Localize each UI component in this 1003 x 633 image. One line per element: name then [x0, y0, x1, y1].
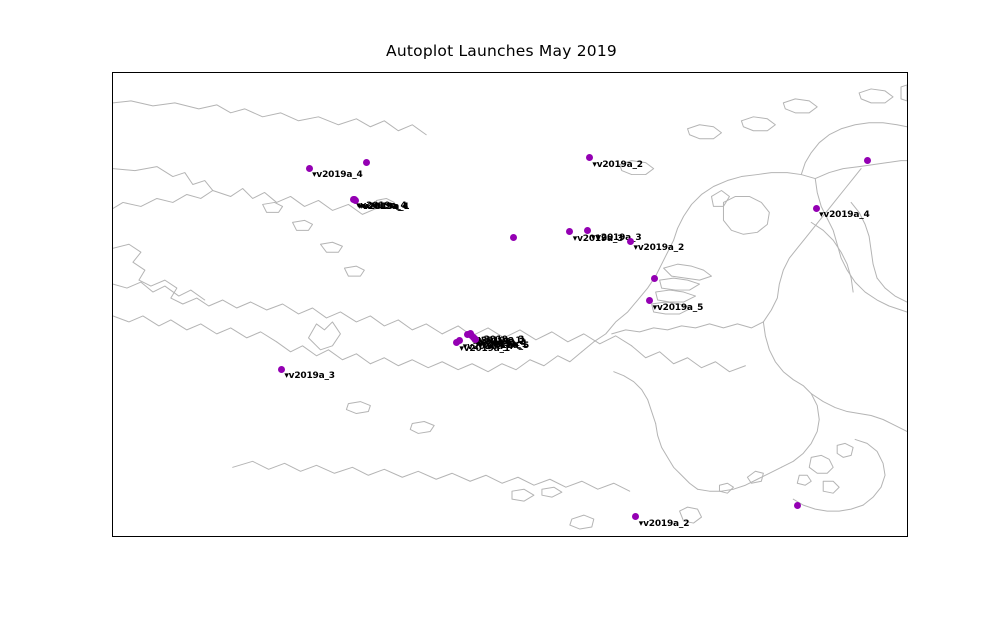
x-axis-minor-tick: [410, 536, 411, 537]
x-axis-tick: [457, 536, 458, 537]
data-point[interactable]: [864, 157, 871, 164]
y-axis-minor-tick: [112, 423, 113, 424]
data-point-label: ▾v2019a_2: [592, 160, 642, 170]
data-point[interactable]: [363, 159, 370, 166]
x-axis-minor-tick: [505, 536, 506, 537]
x-axis-tick: [840, 536, 841, 537]
y-axis-tick: [112, 273, 113, 274]
x-axis-minor-tick: [314, 536, 315, 537]
x-axis-tick: [649, 536, 650, 537]
x-axis-tick: [266, 536, 267, 537]
x-axis-tick: [170, 536, 171, 537]
y-axis-tick: [112, 173, 113, 174]
data-point-label: ▾v2019a_4: [312, 170, 362, 180]
plot-area[interactable]: 4648505254-4-20246810▾v2019a_4▾v2019a_4▾…: [112, 72, 908, 537]
page-title: Autoplot Launches May 2019: [0, 42, 1003, 60]
x-axis-tick: [744, 536, 745, 537]
data-point-label: ▾v2019a_4: [819, 210, 869, 220]
y-axis-minor-tick: [112, 523, 113, 524]
data-point-label: ▾v2019a_2: [639, 519, 689, 529]
x-axis-minor-tick: [218, 536, 219, 537]
x-axis-minor-tick: [601, 536, 602, 537]
x-axis-minor-tick: [888, 536, 889, 537]
y-axis-minor-tick: [112, 323, 113, 324]
basemap-coastlines: [113, 73, 907, 536]
data-point[interactable]: [510, 234, 517, 241]
y-axis-tick: [112, 473, 113, 474]
y-axis-tick: [112, 373, 113, 374]
y-axis-minor-tick: [112, 223, 113, 224]
y-axis-minor-tick: [112, 123, 113, 124]
x-axis-minor-tick: [123, 536, 124, 537]
x-axis-minor-tick: [697, 536, 698, 537]
data-point-label: ▾v2019a_5: [479, 341, 529, 351]
y-axis-tick: [112, 73, 113, 74]
data-point[interactable]: [651, 275, 658, 282]
x-axis-tick: [553, 536, 554, 537]
data-point-label: ▾v2019a_1: [359, 202, 409, 212]
data-point-label: ▾v2019a_3: [284, 371, 334, 381]
data-point-label: ▾v2019a_5: [653, 303, 703, 313]
x-axis-tick: [362, 536, 363, 537]
figure-canvas: Autoplot Launches May 2019: [0, 0, 1003, 633]
data-point-label: ▾v2019a_2: [634, 243, 684, 253]
x-axis-minor-tick: [792, 536, 793, 537]
